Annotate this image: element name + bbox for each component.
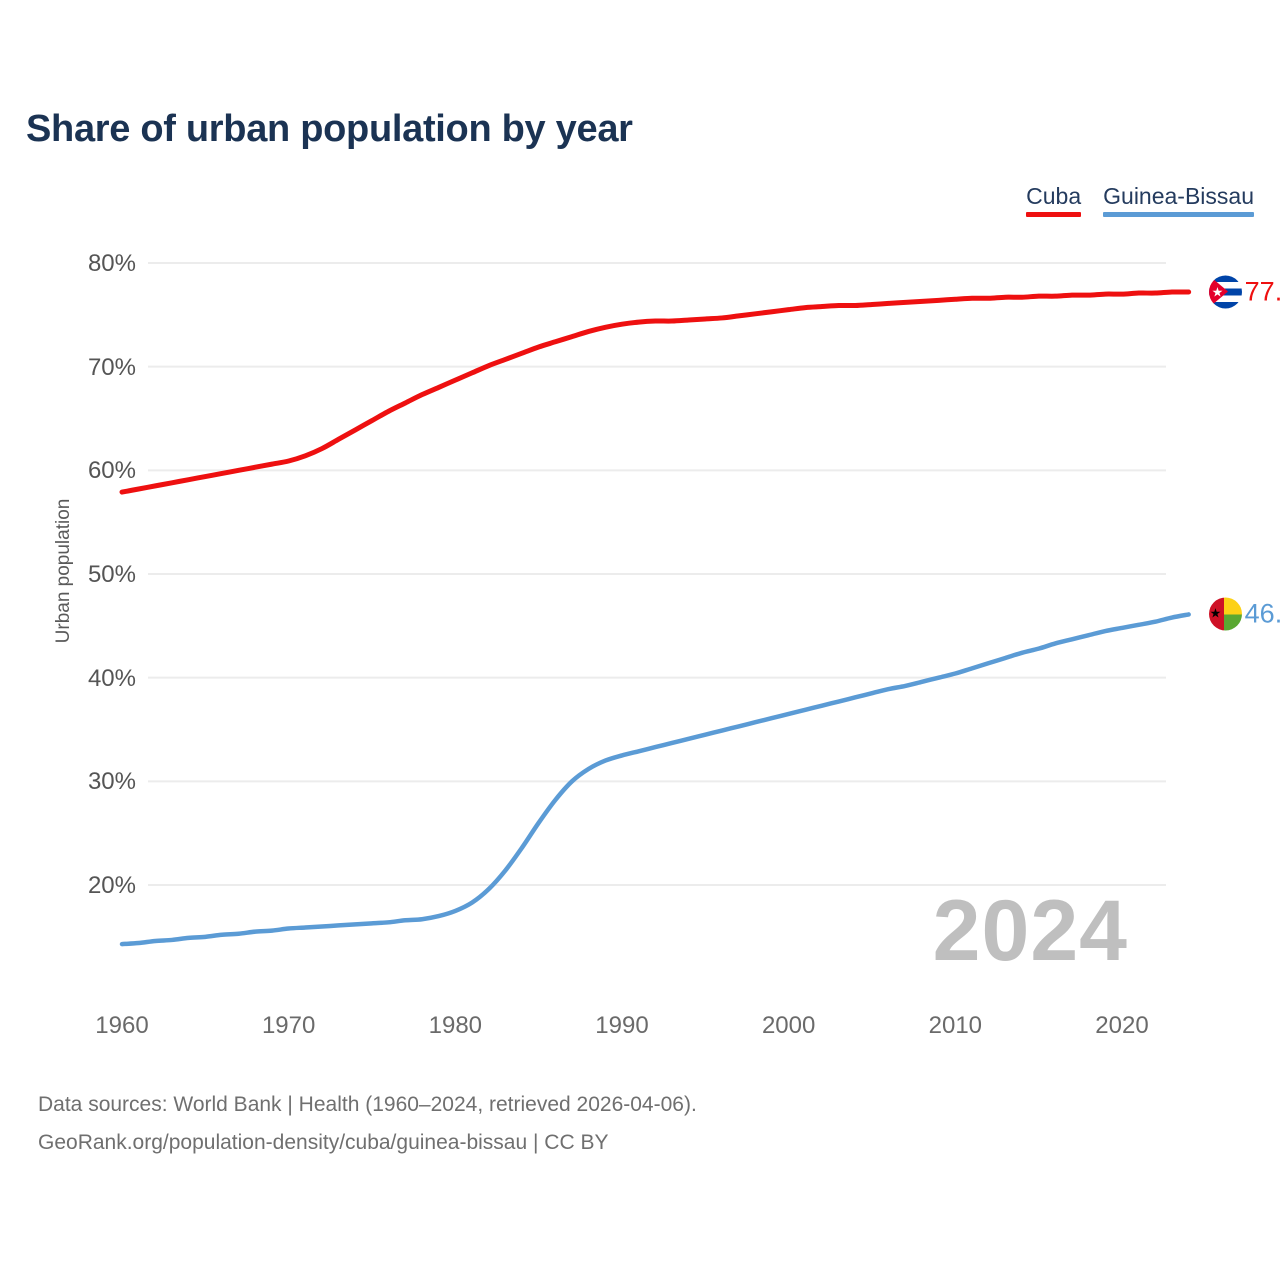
x-tick-label: 1970 xyxy=(229,1012,349,1040)
end-label-cuba: ★ 77.2% xyxy=(1209,276,1280,309)
footer-line-1: Data sources: World Bank | Health (1960–… xyxy=(38,1086,697,1124)
cuba-flag-icon: ★ xyxy=(1209,276,1242,309)
y-tick-label: 70% xyxy=(36,354,136,382)
x-tick-label: 2000 xyxy=(729,1012,849,1040)
x-tick-label: 2020 xyxy=(1062,1012,1182,1040)
x-tick-label: 2010 xyxy=(895,1012,1015,1040)
chart-container: Share of urban population by year Cuba G… xyxy=(0,0,1280,1280)
year-watermark: 2024 xyxy=(933,888,1128,974)
x-tick-label: 1980 xyxy=(395,1012,515,1040)
y-tick-label: 60% xyxy=(36,457,136,485)
footer-line-2: GeoRank.org/population-density/cuba/guin… xyxy=(38,1124,697,1162)
y-tick-label: 40% xyxy=(36,665,136,693)
series-line-cuba xyxy=(122,292,1189,492)
end-value-cuba: 77.2% xyxy=(1245,277,1280,308)
end-label-guinea-bissau: ★ 46.1% xyxy=(1209,598,1280,631)
x-tick-label: 1990 xyxy=(562,1012,682,1040)
y-tick-label: 80% xyxy=(36,250,136,278)
y-tick-label: 50% xyxy=(36,561,136,589)
guinea-bissau-flag-icon: ★ xyxy=(1209,598,1242,631)
y-tick-label: 20% xyxy=(36,872,136,900)
footer-attribution: Data sources: World Bank | Health (1960–… xyxy=(38,1086,697,1162)
x-tick-label: 1960 xyxy=(62,1012,182,1040)
y-tick-label: 30% xyxy=(36,768,136,796)
end-value-guinea-bissau: 46.1% xyxy=(1245,599,1280,630)
